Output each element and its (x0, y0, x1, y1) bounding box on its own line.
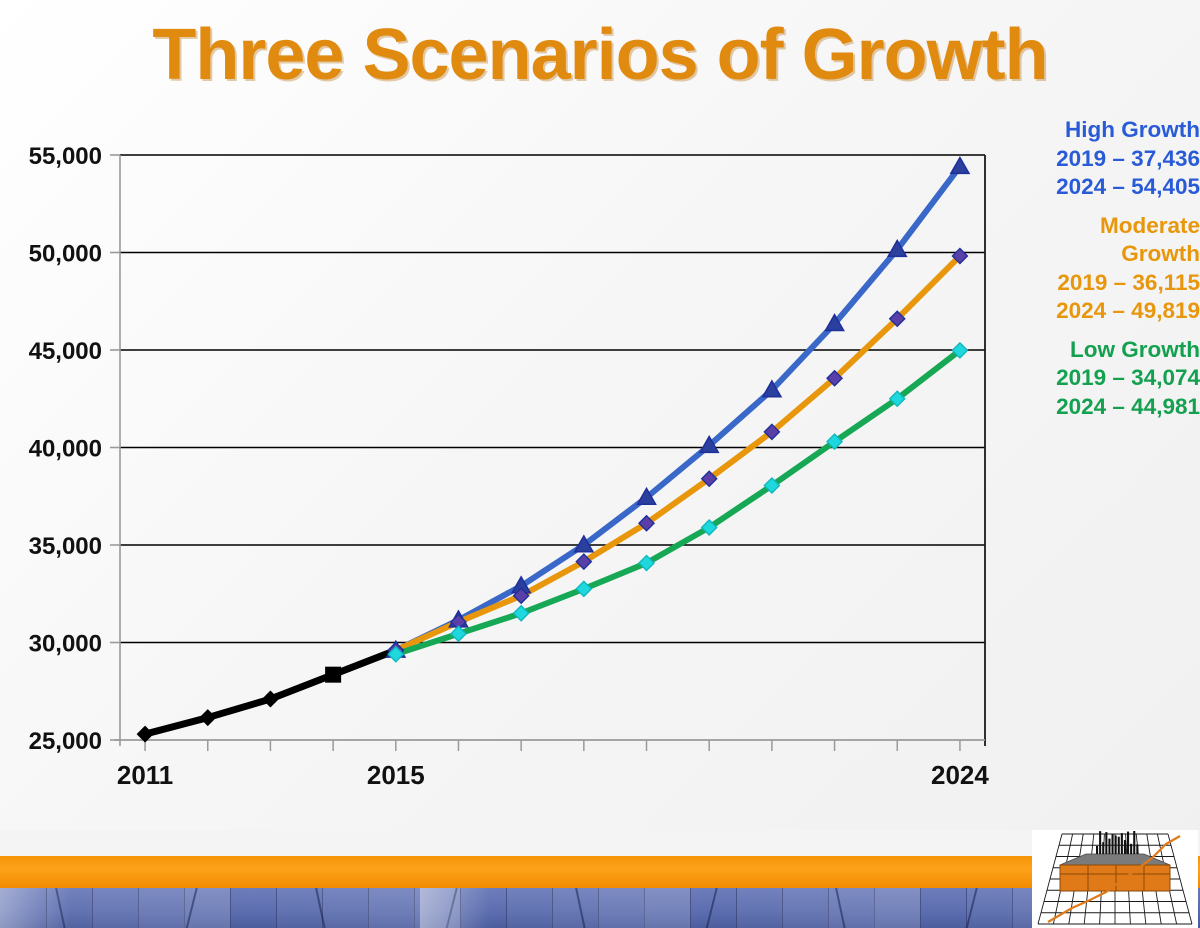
legend-high-2019: 2019 – 37,436 (992, 145, 1200, 174)
y-tick-label: 55,000 (29, 143, 102, 170)
chart-series-group (138, 158, 969, 742)
legend-moderate-2024: 2024 – 49,819 (992, 297, 1200, 326)
slide-canvas: Three Scenarios of Growth 25,00030,00035… (0, 0, 1200, 928)
logo-spike (1096, 846, 1098, 854)
logo-spike (1105, 832, 1107, 854)
y-tick-label: 35,000 (29, 533, 102, 560)
facade-pane (782, 888, 829, 928)
legend-low-title: Low Growth (992, 336, 1200, 365)
facade-pane (368, 888, 415, 928)
facade-pane (644, 888, 691, 928)
logo-spike (1124, 840, 1126, 854)
facade-pane (828, 888, 875, 928)
logo-svg (1032, 830, 1198, 928)
facade-pane (138, 888, 185, 928)
legend-low-2019: 2019 – 34,074 (992, 364, 1200, 393)
footer-accent-band (0, 856, 1200, 888)
facade-pane (874, 888, 921, 928)
chart-axes (110, 155, 985, 746)
growth-chart: 25,00030,00035,00040,00045,00050,00055,0… (0, 120, 1010, 830)
chart-svg: 25,00030,00035,00040,00045,00050,00055,0… (0, 120, 1010, 830)
legend-item-low-growth: Low Growth 2019 – 34,074 2024 – 44,981 (992, 336, 1200, 422)
legend-item-high-growth: High Growth 2019 – 37,436 2024 – 54,405 (992, 116, 1200, 202)
legend-moderate-title-2: Growth (992, 240, 1200, 269)
x-tick-label: 2024 (931, 760, 989, 790)
logo-spike (1127, 832, 1129, 854)
data-point-marker (325, 667, 341, 683)
logo-spike (1136, 844, 1138, 854)
legend-item-moderate-growth: Moderate Growth 2019 – 36,115 2024 – 49,… (992, 212, 1200, 326)
building-grid-logo (1032, 830, 1198, 928)
page-title: Three Scenarios of Growth (0, 12, 1200, 98)
facade-pane (506, 888, 553, 928)
series-line (396, 167, 960, 651)
data-point-marker (951, 158, 969, 174)
facade-pane (322, 888, 369, 928)
y-tick-label: 45,000 (29, 338, 102, 365)
chart-gridlines (120, 155, 985, 740)
facade-pane (230, 888, 277, 928)
logo-building-body (1060, 865, 1170, 891)
logo-spike (1099, 831, 1101, 854)
chart-x-ticks (145, 740, 960, 751)
legend-high-title: High Growth (992, 116, 1200, 145)
facade-pane (92, 888, 139, 928)
logo-spike (1118, 837, 1120, 854)
legend-low-2024: 2024 – 44,981 (992, 393, 1200, 422)
y-tick-label: 40,000 (29, 436, 102, 463)
x-tick-label: 2015 (367, 760, 425, 790)
logo-spike (1115, 836, 1117, 854)
legend-moderate-2019: 2019 – 36,115 (992, 269, 1200, 298)
logo-spike (1108, 839, 1110, 854)
facade-highlight (420, 888, 490, 928)
legend-high-2024: 2024 – 54,405 (992, 173, 1200, 202)
y-tick-label: 50,000 (29, 241, 102, 268)
chart-legend: High Growth 2019 – 37,436 2024 – 54,405 … (992, 116, 1200, 431)
x-tick-label: 2011 (117, 760, 173, 790)
y-tick-label: 25,000 (29, 728, 102, 755)
logo-spike (1130, 844, 1132, 854)
data-point-marker (451, 626, 466, 641)
chart-x-tick-labels: 201120152024 (117, 760, 990, 790)
y-tick-label: 30,000 (29, 631, 102, 658)
chart-y-tick-labels: 25,00030,00035,00040,00045,00050,00055,0… (29, 143, 102, 755)
facade-pane (736, 888, 783, 928)
legend-moderate-title: Moderate (992, 212, 1200, 241)
data-point-marker (200, 710, 215, 725)
logo-spike (1121, 833, 1123, 854)
logo-spike (1112, 834, 1114, 854)
footer-building-photo (0, 888, 1200, 928)
logo-spike (1102, 842, 1104, 854)
footer-white-strip (0, 830, 1200, 856)
facade-pane (598, 888, 645, 928)
series-line (396, 256, 960, 650)
facade-highlight (0, 888, 70, 928)
logo-spike (1133, 831, 1135, 854)
facade-pane (920, 888, 967, 928)
